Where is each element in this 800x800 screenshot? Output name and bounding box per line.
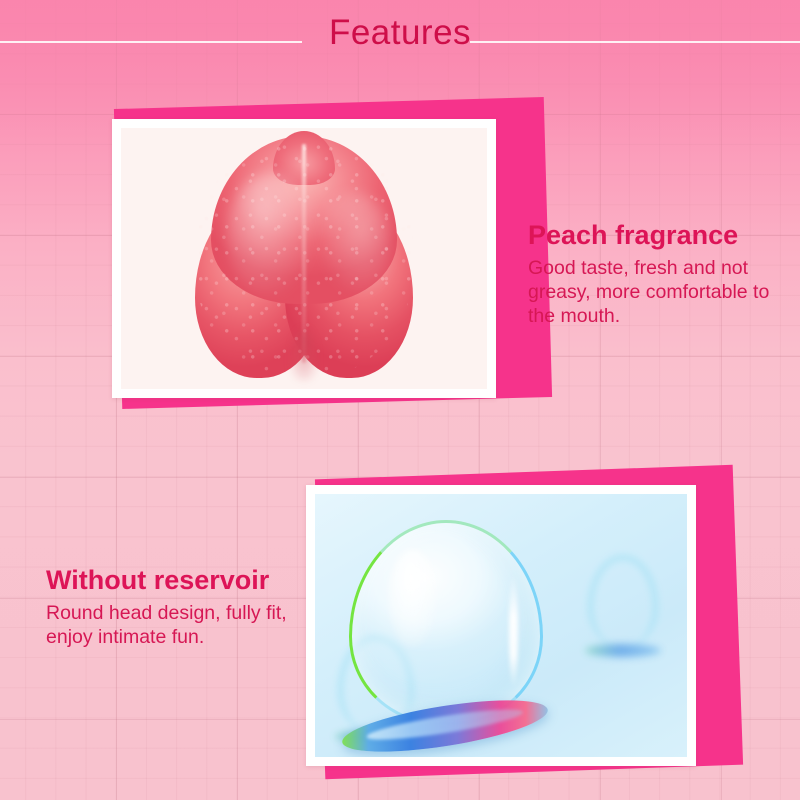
condom-background-shape-right xyxy=(587,554,659,646)
peach-photo xyxy=(121,128,487,389)
condom-photo xyxy=(315,494,687,757)
feature-text-peach-fragrance: Peach fragrance Good taste, fresh and no… xyxy=(528,218,790,328)
peach-highlight-left xyxy=(226,173,318,297)
photo-card-condom xyxy=(306,485,696,766)
page-title: Features xyxy=(0,12,800,54)
feature-text-without-reservoir: Without reservoir Round head design, ful… xyxy=(46,563,306,649)
feature-description: Round head design, fully fit, enjoy inti… xyxy=(46,601,306,649)
condom-highlight-left xyxy=(388,549,438,647)
photo-card-peach xyxy=(112,119,496,398)
peach-illustration xyxy=(195,140,413,378)
feature-description: Good taste, fresh and not greasy, more c… xyxy=(528,256,790,328)
condom-illustration xyxy=(349,520,543,742)
feature-title: Without reservoir xyxy=(46,563,306,597)
condom-dome xyxy=(349,520,543,725)
peach-highlight-right xyxy=(317,192,391,297)
feature-banner: Features Peach fragrance Good taste, fre… xyxy=(0,0,800,800)
header: Features xyxy=(0,0,800,86)
feature-title: Peach fragrance xyxy=(528,218,790,252)
condom-highlight-right xyxy=(509,573,518,688)
